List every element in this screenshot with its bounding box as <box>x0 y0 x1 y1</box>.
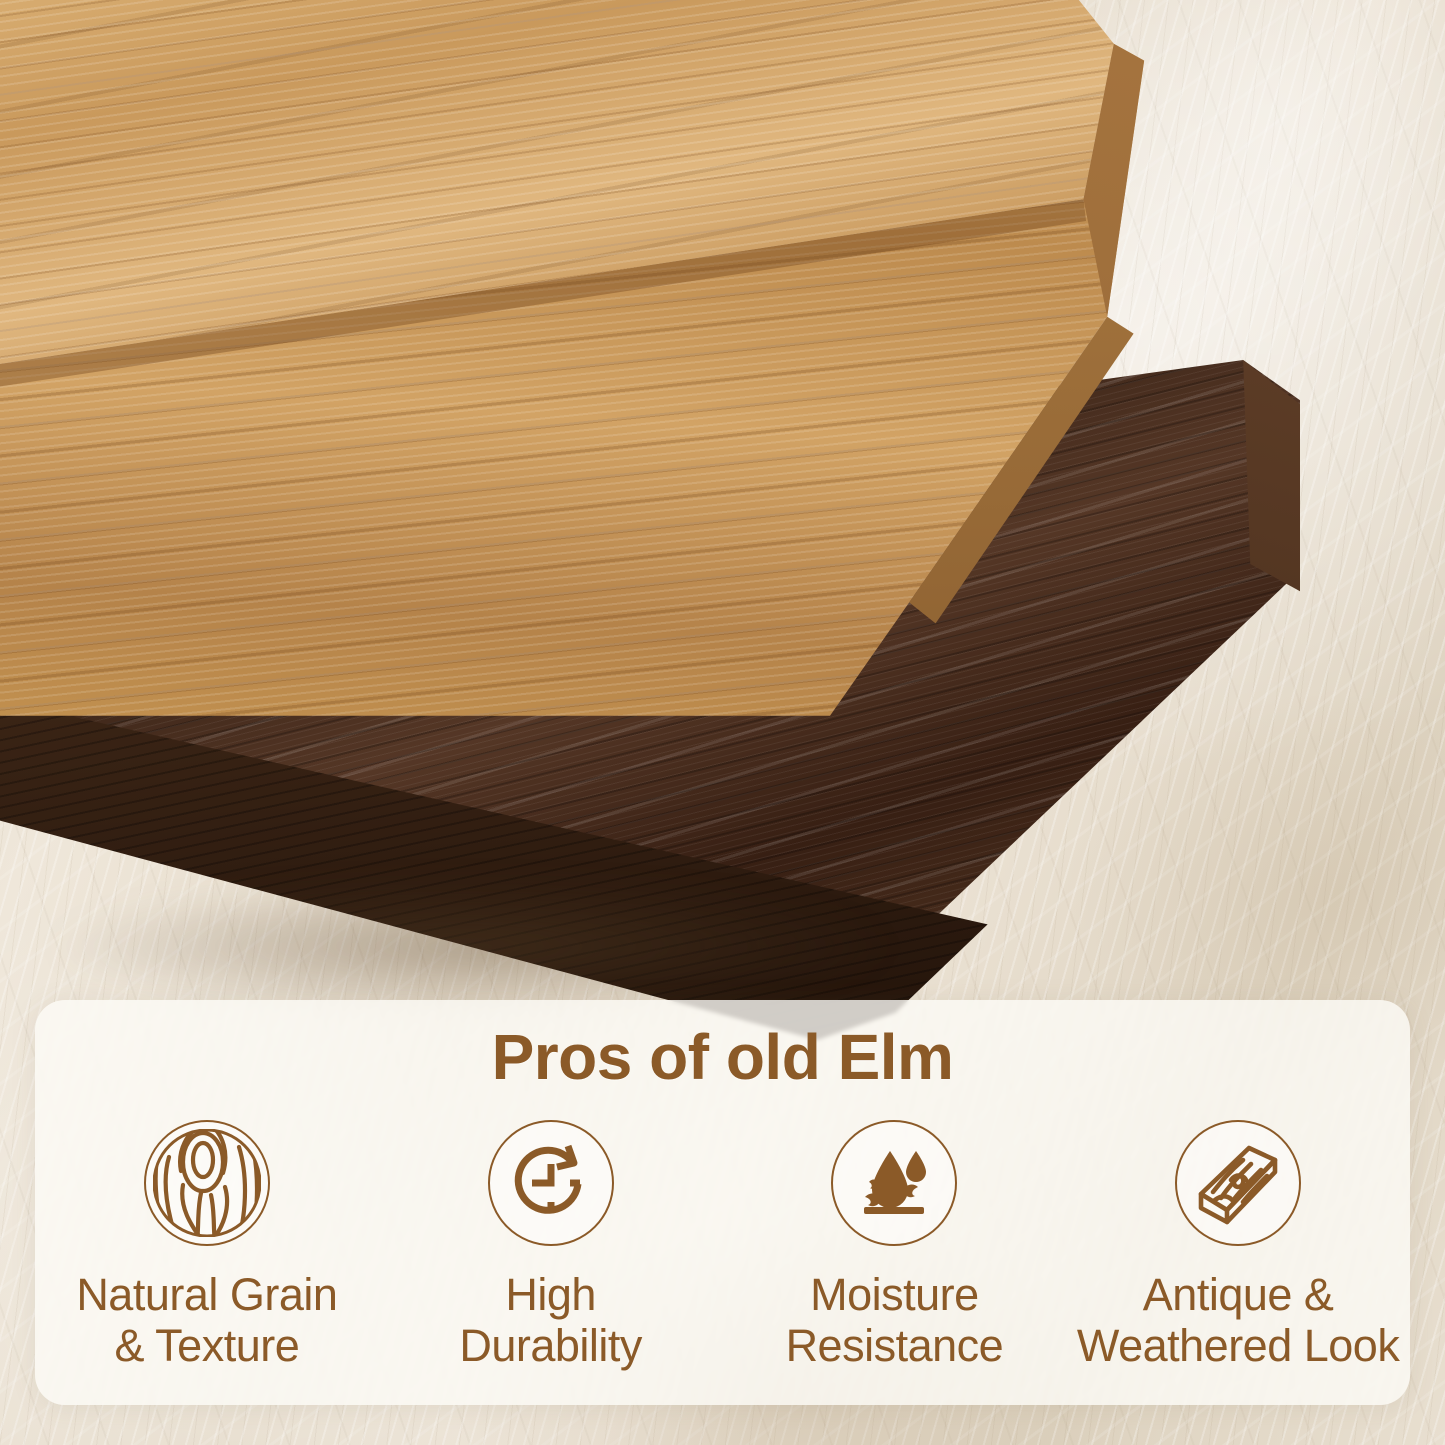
feature-natural-grain: Natural Grain & Texture <box>35 1120 379 1372</box>
feature-label: Antique & Weathered Look <box>1077 1270 1399 1372</box>
light-elm-plank <box>0 0 1160 720</box>
product-image: Pros of old Elm <box>0 0 1445 1445</box>
clock-refresh-icon <box>488 1120 614 1246</box>
feature-label: High Durability <box>459 1270 642 1372</box>
pros-info-panel: Pros of old Elm <box>35 1000 1410 1405</box>
feature-moisture-resistance: Moisture Resistance <box>723 1120 1067 1372</box>
feature-label: Natural Grain & Texture <box>76 1270 337 1372</box>
water-droplet-icon <box>831 1120 957 1246</box>
feature-antique-weathered: Antique & Weathered Look <box>1066 1120 1410 1372</box>
wood-plank-icon <box>1175 1120 1301 1246</box>
feature-label: Moisture Resistance <box>786 1270 1004 1372</box>
feature-list: Natural Grain & Texture High Durability <box>35 1120 1410 1372</box>
feature-high-durability: High Durability <box>379 1120 723 1372</box>
wood-grain-icon <box>144 1120 270 1246</box>
page-title: Pros of old Elm <box>35 1020 1410 1094</box>
